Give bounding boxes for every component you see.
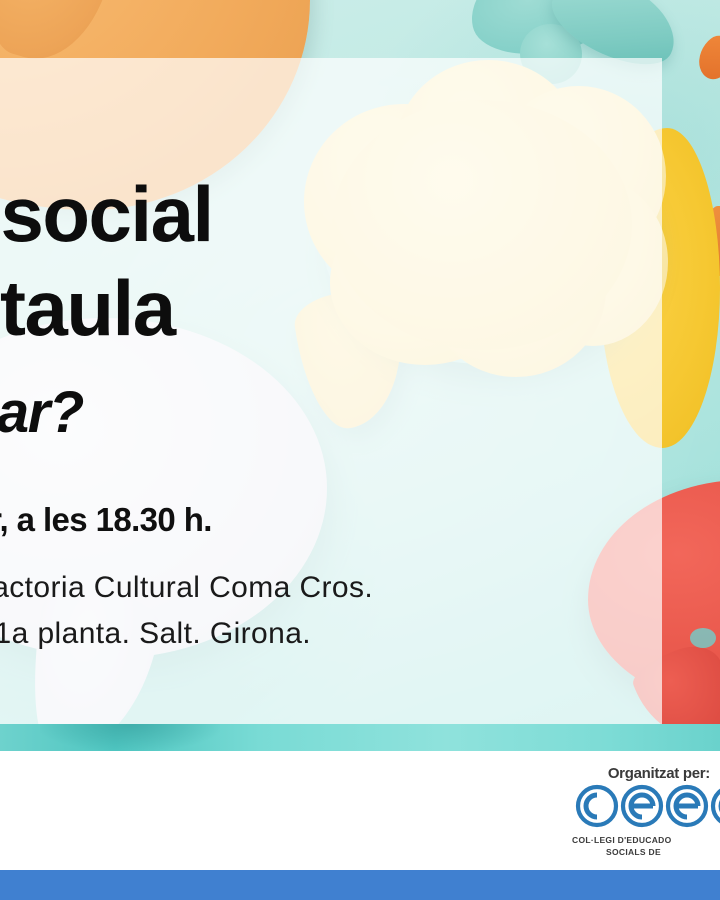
organizer-logo: COL·LEGI D'EDUCADO SOCIALS DE: [572, 783, 720, 857]
poster-footer: Organitzat per:: [0, 751, 720, 870]
organizer-label: Organitzat per:: [452, 765, 710, 782]
event-poster: ió social a taula ucar? ener, a les 18.3…: [0, 0, 720, 900]
subheadline: ucar?: [0, 379, 83, 446]
organizer-section: Organitzat per:: [452, 765, 712, 782]
logo-subtitle-line-1: COL·LEGI D'EDUCADO: [572, 835, 720, 846]
poster-text-block: ió social a taula ucar? ener, a les 18.3…: [0, 58, 662, 724]
event-venue-line-2: 1, 1a planta. Salt. Girona.: [0, 617, 311, 651]
logo-subtitle-line-2: SOCIALS DE: [572, 847, 720, 858]
headline-line-1: ió social: [0, 169, 213, 260]
headline-line-2: a taula: [0, 263, 175, 354]
bottom-blue-band: [0, 870, 720, 900]
cee-logo-mark: [572, 783, 720, 834]
coral-bubble-notch: [690, 628, 716, 648]
event-datetime: ener, a les 18.30 h.: [0, 501, 212, 539]
event-venue-line-1: . Factoria Cultural Coma Cros.: [0, 571, 373, 605]
teal-band-shadow: [40, 724, 220, 751]
cee-wordmark-icon: [572, 783, 720, 829]
